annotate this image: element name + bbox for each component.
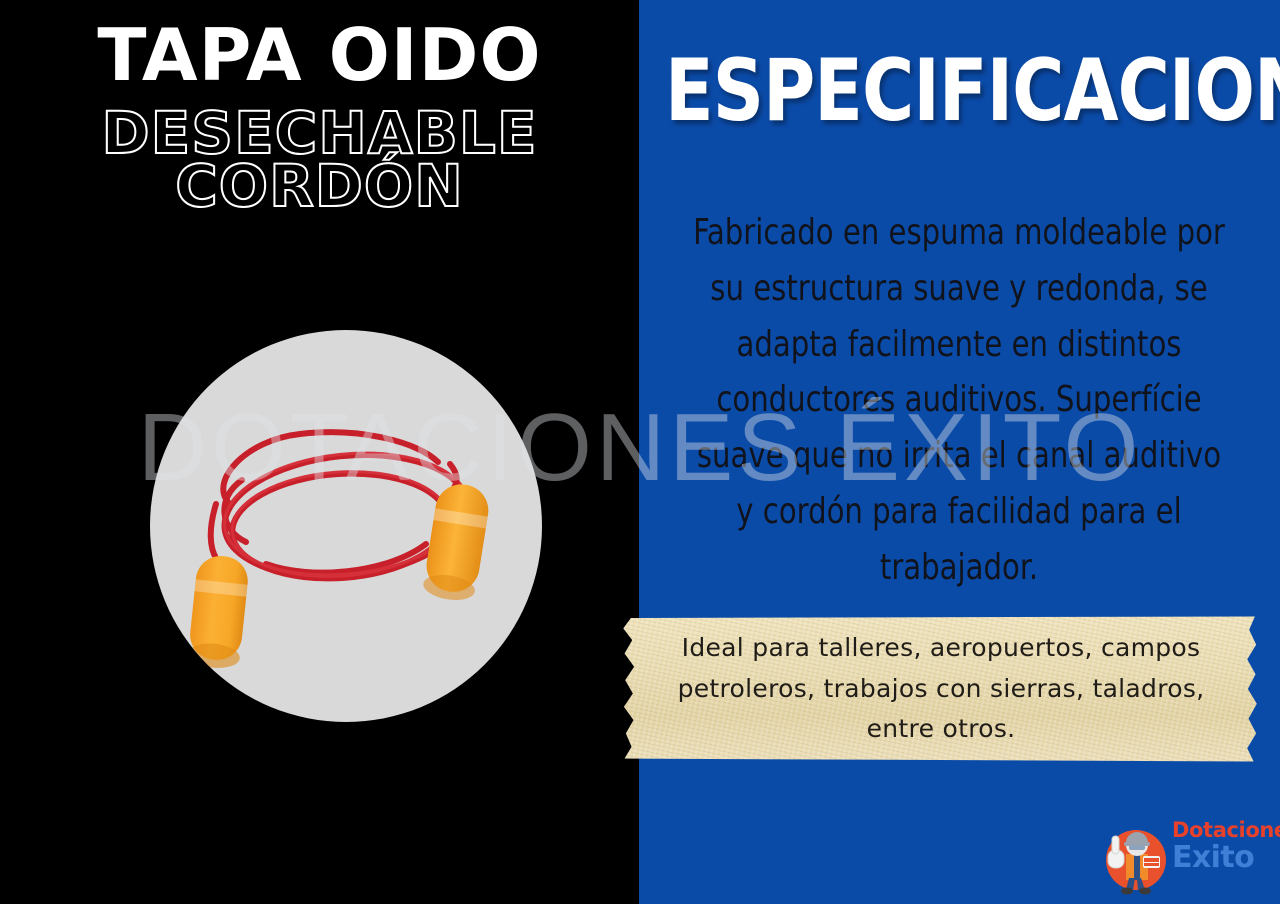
company-logo: Dotaciones Exito xyxy=(1096,812,1272,898)
product-image xyxy=(150,330,542,722)
logo-wordmark: Dotaciones Exito xyxy=(1172,820,1272,873)
product-poster: TAPA OIDO DESECHABLE CORDÓN xyxy=(0,0,1280,904)
specifications-body: Fabricado en espuma moldeable por su est… xyxy=(685,205,1232,596)
logo-word-dotaciones: Dotaciones xyxy=(1172,820,1272,841)
tape-note-text: Ideal para talleres, aeropuertos, campos… xyxy=(622,624,1260,754)
product-subtitle-2: CORDÓN xyxy=(0,157,639,216)
worker-mascot-icon xyxy=(1096,814,1170,896)
logo-word-exito: Exito xyxy=(1172,843,1272,873)
title-block: TAPA OIDO DESECHABLE CORDÓN xyxy=(0,18,639,216)
corded-earplugs-illustration xyxy=(150,330,542,722)
product-title: TAPA OIDO xyxy=(0,18,639,94)
specifications-heading: ESPECIFICACIONES xyxy=(665,48,1217,134)
